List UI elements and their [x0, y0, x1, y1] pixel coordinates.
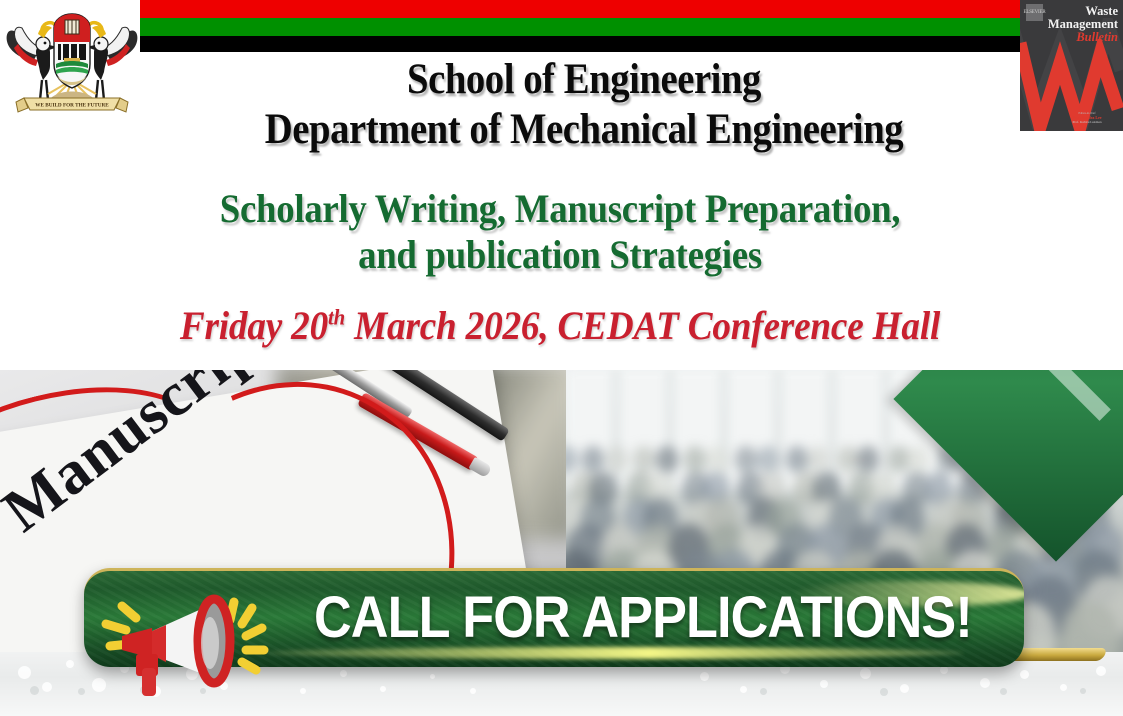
event-flyer-poster: WE BUILD FOR THE FUTURE ELSEVIER Waste M… [0, 0, 1123, 716]
makerere-coat-of-arms-icon: WE BUILD FOR THE FUTURE [2, 2, 142, 114]
event-date-venue: Friday 20th March 2026, CEDAT Conference… [76, 306, 1043, 346]
crest-motto-text: WE BUILD FOR THE FUTURE [35, 103, 109, 109]
flag-stripes [140, 0, 1026, 52]
title-block: School of Engineering Department of Mech… [150, 58, 1018, 152]
event-date-suffix: March 2026, CEDAT Conference Hall [345, 303, 940, 348]
event-date-ordinal: th [328, 305, 345, 330]
stripe-red [140, 0, 1026, 18]
journal-title: Waste Management Bulletin [1044, 5, 1118, 43]
megaphone-icon [92, 580, 307, 700]
waste-management-bulletin-cover: ELSEVIER Waste Management Bulletin Edito… [1020, 0, 1123, 131]
stripe-black [140, 36, 1026, 52]
topic-line-1: Scholarly Writing, Manuscript Preparatio… [100, 186, 1020, 232]
journal-title-line2: Management [1044, 18, 1118, 31]
event-date-prefix: Friday 20 [180, 303, 328, 348]
call-for-applications-text: CALL FOR APPLICATIONS! [314, 587, 935, 649]
topic-line-2: and publication Strategies [100, 232, 1020, 278]
department-title: Department of Mechanical Engineering [193, 108, 974, 152]
journal-title-line1: Waste [1044, 5, 1118, 18]
publisher-mark-icon: ELSEVIER [1026, 4, 1043, 21]
topic-title: Scholarly Writing, Manuscript Preparatio… [100, 186, 1020, 277]
megaphone-cone-highlight [201, 617, 219, 669]
poster-header: WE BUILD FOR THE FUTURE ELSEVIER Waste M… [0, 0, 1123, 370]
school-title: School of Engineering [193, 58, 974, 102]
publisher-mark-label: ELSEVIER [1024, 10, 1046, 15]
journal-title-line3: Bulletin [1044, 31, 1118, 44]
journal-footer-line3: Prof. Kabiru Lukman [1057, 120, 1117, 124]
stripe-green [140, 18, 1026, 36]
megaphone-handle [142, 668, 156, 696]
megaphone-rays-right [230, 602, 264, 670]
journal-footer: Editors-in-Chief Prof. Sandra Lee Prof. … [1057, 112, 1117, 124]
